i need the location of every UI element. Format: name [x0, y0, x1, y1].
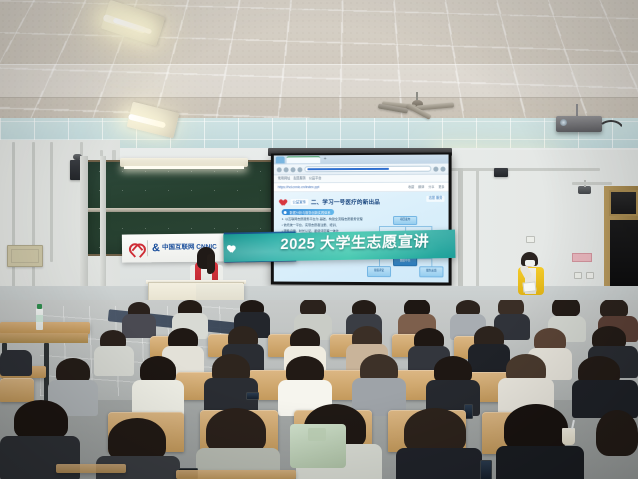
projection-screen: + 常用网址 志愿服务 公益平台 ht — [271, 152, 452, 285]
banner-divider — [147, 240, 148, 256]
electrical-conduit — [12, 142, 15, 302]
home-icon[interactable] — [297, 167, 302, 172]
audience-torso — [0, 350, 32, 376]
browser-address-line: https://hd.cnnic.cn/index.ppt 收藏 翻译 分享 更… — [274, 183, 449, 192]
reload-icon[interactable] — [291, 167, 296, 172]
diagram-connector — [431, 258, 432, 266]
audience-torso — [396, 448, 482, 479]
url-input[interactable] — [304, 166, 431, 173]
slide-badge: 公益宣传 — [291, 199, 308, 205]
audience-torso — [132, 380, 184, 416]
audience-head — [14, 400, 68, 440]
power-outlet — [586, 272, 594, 279]
lecture-desk — [176, 470, 296, 479]
bookmark-item[interactable]: 常用网址 — [278, 177, 291, 180]
volunteer-staff — [514, 252, 548, 302]
audience-area — [0, 300, 638, 479]
power-outlet — [574, 272, 582, 279]
wall-pipe — [458, 168, 463, 288]
audience-torso — [122, 314, 156, 338]
tool-more[interactable]: 更多 — [438, 185, 444, 189]
slide-corner-logo: 志愿 服务 — [427, 196, 445, 202]
open-doorway[interactable] — [610, 220, 638, 290]
ceiling-beam — [0, 64, 638, 98]
diagram-node: 项目发布 — [393, 216, 417, 225]
fan-blade — [378, 103, 408, 113]
tool-favorite[interactable]: 收藏 — [408, 185, 414, 189]
electrical-conduit — [476, 168, 479, 290]
audience-torso — [496, 446, 584, 479]
presenter-hair — [207, 254, 215, 274]
bookmark-item[interactable]: 志愿服务 — [293, 177, 306, 180]
event-title-banner: 2025 大学生志愿宣讲 — [223, 230, 455, 262]
url-text — [307, 168, 389, 170]
bottle-label — [36, 315, 43, 322]
projected-image: + 常用网址 志愿服务 公益平台 ht — [274, 154, 449, 282]
slide-bullet: • 依托统一平台，实现志愿者注册、培训、 — [282, 224, 355, 228]
door-transom-window — [609, 190, 638, 216]
exit-sign — [572, 253, 592, 262]
browser-active-tab[interactable] — [287, 156, 321, 163]
projector-lens-icon — [560, 119, 567, 126]
wall-pillar — [100, 156, 106, 306]
projector-mount — [576, 104, 578, 116]
wall-conduit-horizontal — [572, 182, 612, 185]
heart-logo-icon — [128, 242, 143, 255]
volunteer-face-mask — [525, 260, 535, 266]
banner-left-group — [227, 235, 278, 260]
audience-torso — [94, 346, 134, 376]
power-outlet — [526, 236, 535, 243]
volunteer-papers — [523, 281, 537, 292]
security-camera-icon — [578, 186, 591, 194]
logo-mark: & — [152, 243, 160, 254]
tool-translate[interactable]: 翻译 — [418, 185, 424, 189]
electrical-conduit — [50, 142, 53, 262]
page-url-text: https://hd.cnnic.cn/index.ppt — [278, 185, 320, 189]
tool-share[interactable]: 分享 — [428, 185, 434, 189]
blackboard-light-tube — [124, 166, 244, 169]
browser-nav-bar — [274, 164, 449, 176]
ceiling-fan — [378, 100, 418, 118]
forward-arrow-icon[interactable] — [284, 167, 289, 172]
electrical-conduit — [32, 142, 35, 300]
smartphone[interactable] — [246, 392, 259, 400]
new-tab-icon[interactable]: + — [322, 156, 328, 163]
sign-border — [11, 249, 39, 263]
lecture-seat[interactable] — [0, 378, 34, 402]
left-wall-sign — [7, 245, 43, 267]
heart-logo-icon — [280, 198, 288, 206]
lecture-desk — [56, 464, 126, 473]
slide-header: 公益宣传 二、学习一号医疗的新出品 — [280, 196, 444, 207]
slide-bullet: 1. 以互联网志愿服务平台为 基础，构建全流程志愿服务管理 — [282, 218, 355, 222]
slide-title: 二、学习一号医疗的新出品 — [311, 197, 380, 205]
chalk-tray — [88, 208, 284, 212]
heart-logo-icon — [227, 244, 236, 253]
wall-pillar — [80, 156, 88, 306]
lecture-desk-front — [0, 333, 88, 343]
smartphone[interactable] — [480, 460, 492, 479]
diagram-node: 服务反馈 — [419, 266, 443, 277]
back-arrow-icon[interactable] — [277, 167, 282, 172]
bottle-cap — [37, 304, 42, 309]
wall-conduit-horizontal — [440, 168, 600, 171]
wall-speaker — [494, 168, 508, 177]
audience-head — [596, 410, 638, 456]
audience-head — [552, 300, 580, 317]
bookmark-item[interactable]: 公益平台 — [309, 177, 322, 180]
diagram-node: 星级评定 — [367, 266, 391, 277]
lecture-hall-photo: + 常用网址 志愿服务 公益平台 ht — [0, 0, 638, 479]
audience-head — [504, 404, 568, 452]
browser-toolbar-tools: 收藏 翻译 分享 更多 — [408, 185, 444, 189]
slide-section-pill: 数据分析与服务创新实践体系 — [282, 209, 335, 215]
backpack-pocket — [308, 428, 326, 441]
star-icon[interactable] — [433, 166, 438, 171]
audience-torso — [572, 380, 638, 418]
menu-icon[interactable] — [440, 166, 445, 171]
drink-cup[interactable] — [562, 428, 575, 445]
browser-folder-tab[interactable] — [276, 156, 285, 163]
event-title-text: 2025 大学生志愿宣讲 — [280, 234, 451, 252]
